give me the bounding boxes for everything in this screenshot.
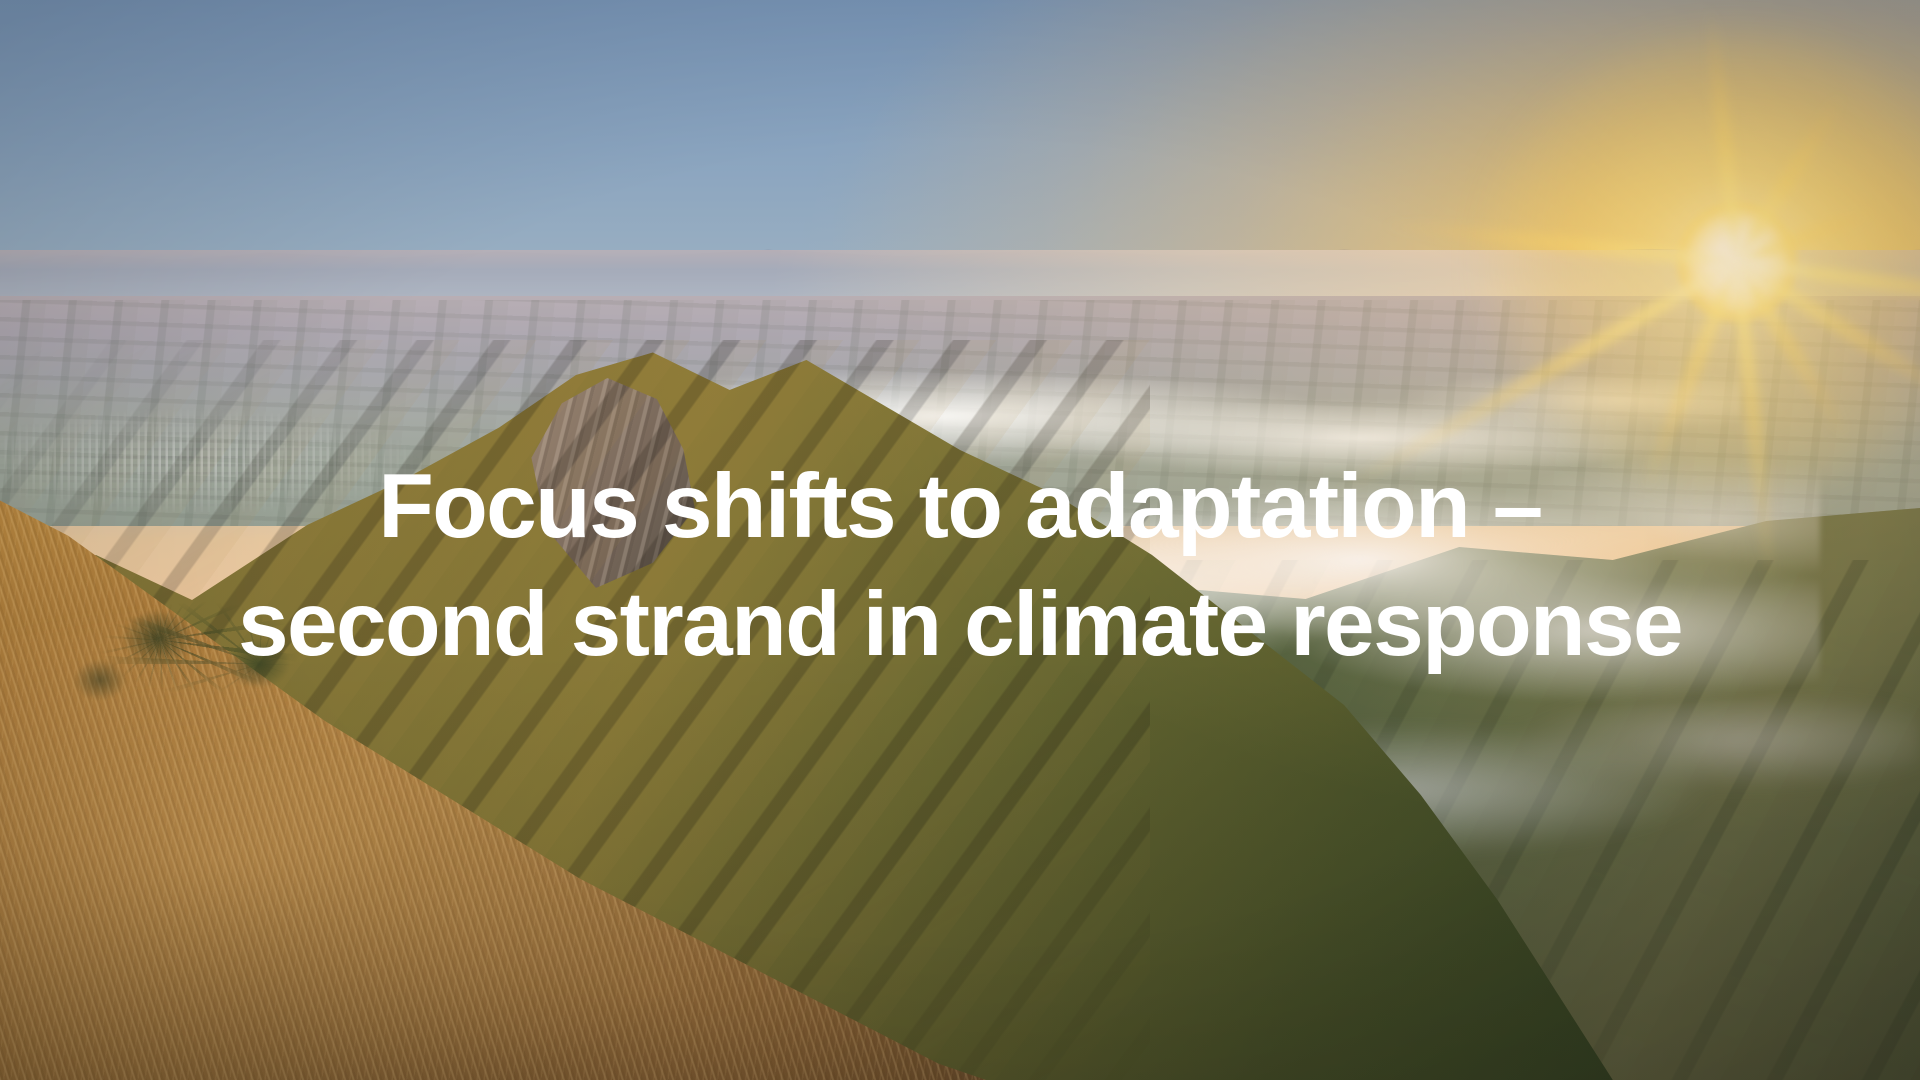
flax-leaf-spikes [40, 548, 380, 738]
hero-banner: Focus shifts to adaptation – second stra… [0, 0, 1920, 1080]
